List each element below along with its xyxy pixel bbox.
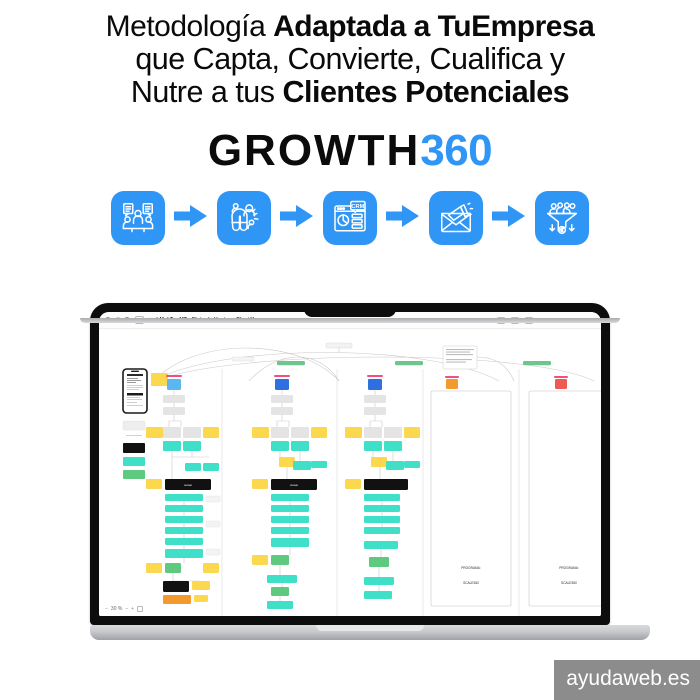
process-step-4[interactable]	[429, 191, 483, 245]
zoom-control[interactable]: − 30 % – +	[105, 606, 143, 612]
arrow-right-icon	[174, 203, 208, 234]
lead-magnet-icon	[226, 200, 262, 236]
headline-line-3-regular: Nutre a tus	[131, 75, 283, 109]
zoom-in-button[interactable]: +	[131, 606, 134, 612]
laptop-screen: ‹ LM, LT y MT - Flujo de Ventas - Planti…	[99, 312, 601, 616]
zoom-separator: –	[125, 606, 128, 612]
phone-mockup	[123, 369, 147, 413]
watermark: ayudaweb.es	[554, 660, 700, 700]
flow-column-b: WEBINAR	[252, 375, 327, 609]
sticky-note	[151, 373, 168, 386]
laptop-foot	[80, 318, 620, 323]
camera-notch	[304, 303, 396, 317]
flow-column-c	[345, 375, 420, 599]
arrow-2	[271, 198, 323, 238]
note-card	[443, 346, 514, 381]
arrow-3	[377, 198, 429, 238]
brand-logo: GROWTH360	[0, 127, 700, 175]
program-panel-1: PROGRAMA: SCALE360	[431, 376, 511, 606]
headline-line-1: Metodología Adaptada a TuEmpresa	[4, 10, 696, 43]
process-step-5[interactable]	[535, 191, 589, 245]
logo-text: GROWTH360	[208, 127, 492, 175]
email-megaphone-icon	[438, 200, 474, 236]
zoom-out-button[interactable]: −	[105, 606, 108, 612]
flow-column-a: WEBINAR	[146, 375, 220, 604]
headline-line-3-bold: Clientes Potenciales	[283, 75, 570, 109]
headline-line-2: que Capta, Convierte, Cualifica y	[4, 43, 696, 76]
laptop-base	[90, 625, 650, 640]
poster-root: Metodología Adaptada a TuEmpresa que Cap…	[0, 0, 700, 700]
flow-diagram: .ln { stroke:#c9c9c9; stroke-width:.6; f…	[99, 329, 601, 616]
headline-line-3: Nutre a tus Clientes Potenciales	[4, 76, 696, 109]
laptop-lid: ‹ LM, LT y MT - Flujo de Ventas - Planti…	[90, 303, 610, 625]
legend	[123, 421, 145, 479]
program-label-2: PROGRAMA:	[559, 566, 579, 570]
arrow-1	[165, 198, 217, 238]
page-title: Metodología Adaptada a TuEmpresa que Cap…	[0, 0, 700, 109]
arrow-right-icon	[386, 203, 420, 234]
headline-line-1-regular: Metodología	[106, 10, 273, 43]
program-name-1: SCALE360	[463, 581, 479, 585]
whiteboard-canvas[interactable]: .ln { stroke:#c9c9c9; stroke-width:.6; f…	[99, 329, 601, 616]
headline-line-2-text: que Capta, Convierte, Cualifica y	[135, 42, 564, 76]
arrow-right-icon	[492, 203, 526, 234]
svg-text:CRM: CRM	[351, 204, 364, 210]
arrow-4	[483, 198, 535, 238]
headline-line-1-bold: Adaptada a TuEmpresa	[273, 10, 594, 43]
program-name-2: SCALE360	[561, 581, 577, 585]
logo-number: 360	[420, 126, 492, 175]
crm-dashboard-icon: CRM	[332, 200, 368, 236]
fit-to-screen-icon[interactable]	[137, 606, 143, 612]
program-panel-2: PROGRAMA: SCALE360	[529, 376, 601, 606]
logo-word: GROWTH	[208, 126, 420, 175]
program-label-1: PROGRAMA:	[461, 566, 481, 570]
svg-text:WEBINAR: WEBINAR	[290, 484, 299, 487]
process-step-3[interactable]: CRM	[323, 191, 377, 245]
zoom-level-value: 30 %	[111, 606, 122, 612]
sales-funnel-icon	[544, 200, 580, 236]
laptop-mockup: ‹ LM, LT y MT - Flujo de Ventas - Planti…	[90, 303, 610, 640]
process-strip: CRM	[0, 191, 700, 245]
meeting-people-icon	[120, 200, 156, 236]
svg-text:WEBINAR: WEBINAR	[184, 484, 193, 487]
process-step-2[interactable]	[217, 191, 271, 245]
process-step-1[interactable]	[111, 191, 165, 245]
arrow-right-icon	[280, 203, 314, 234]
